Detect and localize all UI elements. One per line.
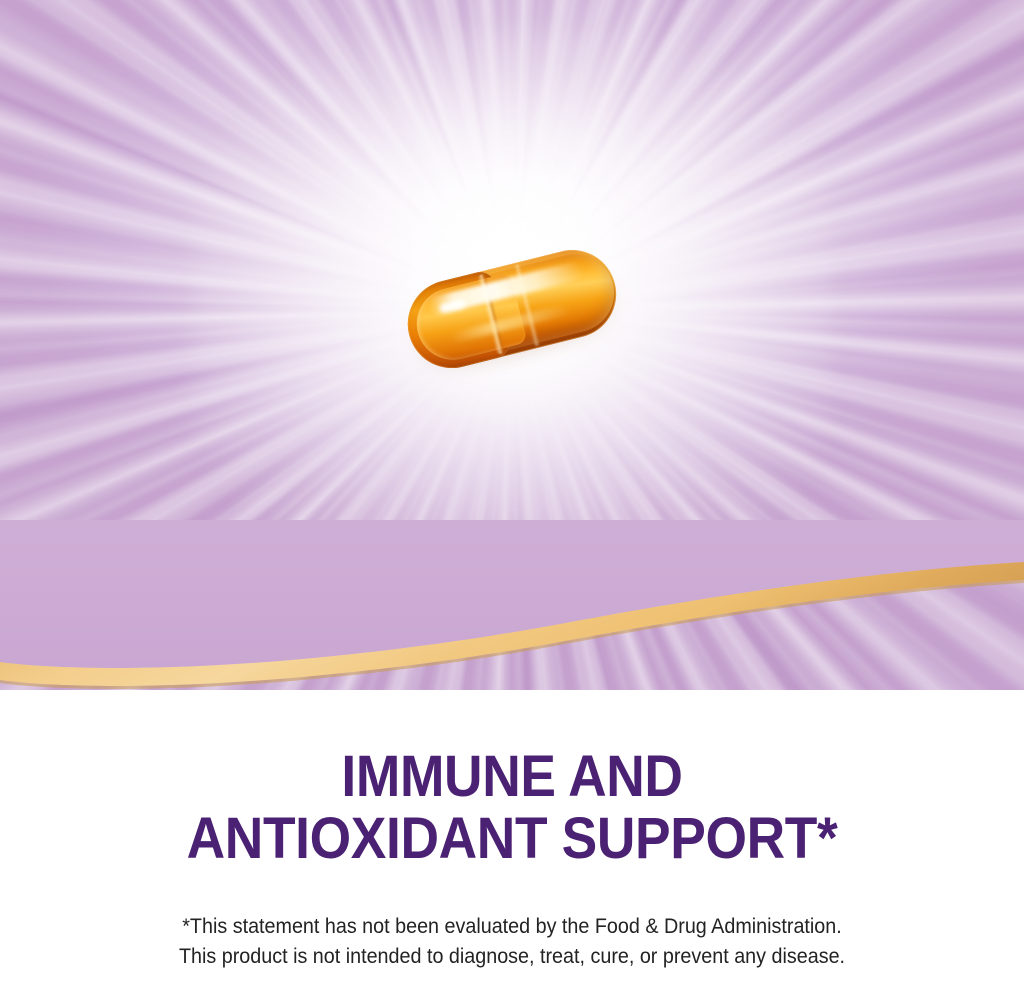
headline-line-1: IMMUNE AND — [41, 746, 983, 808]
headline-line-2: ANTIOXIDANT SUPPORT* — [41, 808, 983, 870]
page-title: IMMUNE AND ANTIOXIDANT SUPPORT* — [41, 746, 983, 870]
lower-copy-section: IMMUNE AND ANTIOXIDANT SUPPORT* *This st… — [0, 690, 1024, 991]
disclaimer-line-1: *This statement has not been evaluated b… — [31, 912, 994, 942]
gold-wave-divider — [0, 520, 1024, 705]
disclaimer-line-2: This product is not intended to diagnose… — [31, 942, 994, 972]
marketing-panel: IMMUNE AND ANTIOXIDANT SUPPORT* *This st… — [0, 0, 1024, 991]
fda-disclaimer: *This statement has not been evaluated b… — [31, 912, 994, 972]
